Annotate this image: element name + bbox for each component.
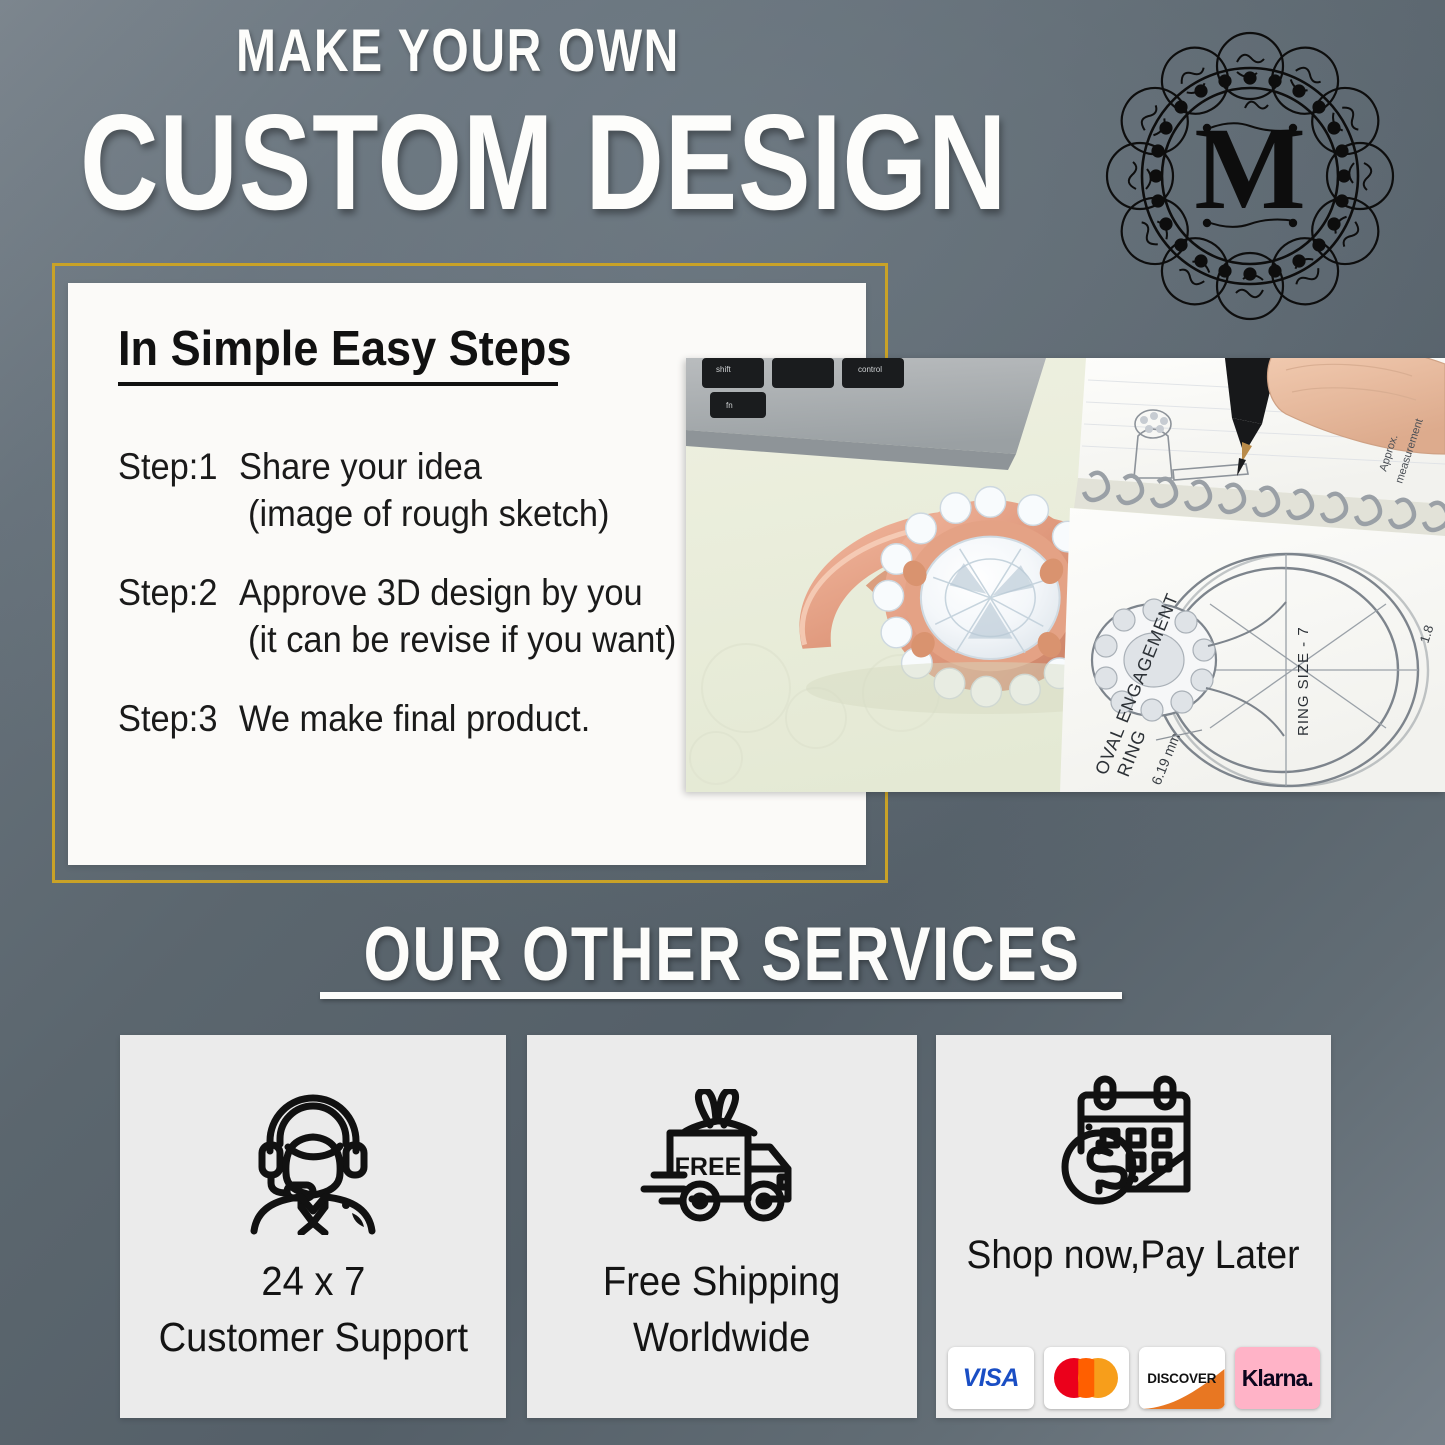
ring-design-photo: shift control fn (686, 358, 1445, 792)
step-number: Step:1 (118, 443, 217, 490)
klarna-icon: Klarna. (1235, 1347, 1321, 1409)
svg-text:shift: shift (716, 365, 731, 374)
discover-label: DISCOVER (1147, 1371, 1216, 1386)
delivery-truck-gift-icon: FREE (632, 1087, 812, 1237)
klarna-label: Klarna. (1242, 1365, 1313, 1392)
sketch-ring-size-label: RING SIZE - 7 (1295, 626, 1312, 736)
service-card-shipping-text: Free Shipping Worldwide (594, 1253, 849, 1365)
payment-methods: VISA DISCOVER Klarna. (948, 1347, 1320, 1409)
svg-text:fn: fn (726, 401, 733, 410)
service-card-support[interactable]: 24 x 7 Customer Support (120, 1035, 506, 1418)
step-text: We make final product. (239, 695, 590, 742)
header-line1: MAKE YOUR OWN (236, 20, 844, 82)
step-number: Step:2 (118, 569, 217, 616)
support-line-1: 24 x 7 (158, 1253, 467, 1309)
steps-heading: In Simple Easy Steps (118, 321, 571, 377)
step-text: Share your idea (239, 443, 482, 490)
svg-text:control: control (858, 365, 882, 374)
step-number: Step:3 (118, 695, 217, 742)
shipping-line-1: Free Shipping (603, 1253, 840, 1309)
step-text: Approve 3D design by you (239, 569, 643, 616)
steps-heading-underline (118, 382, 558, 386)
visa-label: VISA (963, 1364, 1019, 1393)
shipping-line-2: Worldwide (603, 1309, 840, 1365)
visa-icon: VISA (948, 1347, 1034, 1409)
logo-monogram-letter: M (1194, 103, 1305, 234)
brand-logo: M (1085, 18, 1415, 333)
service-card-support-text: 24 x 7 Customer Support (147, 1253, 480, 1365)
services-title-underline (320, 992, 1122, 999)
truck-free-label: FREE (675, 1153, 742, 1181)
poster-root: MAKE YOUR OWN CUSTOM DESIGN (0, 0, 1445, 1445)
mastercard-circles (1054, 1358, 1118, 1398)
headset-support-agent-icon (240, 1087, 386, 1237)
discover-icon: DISCOVER (1139, 1347, 1225, 1409)
services-title: OUR OTHER SERVICES (0, 915, 1445, 995)
support-line-2: Customer Support (158, 1309, 467, 1365)
calendar-dollar-icon (1053, 1073, 1215, 1215)
paylater-line-1: Shop now,Pay Later (967, 1227, 1300, 1283)
mastercard-icon (1044, 1347, 1130, 1409)
header-line2: CUSTOM DESIGN (80, 92, 1024, 232)
service-card-shipping[interactable]: FREE Free Shipping Worldwide (527, 1035, 917, 1418)
service-card-paylater-text: Shop now,Pay Later (954, 1227, 1312, 1283)
